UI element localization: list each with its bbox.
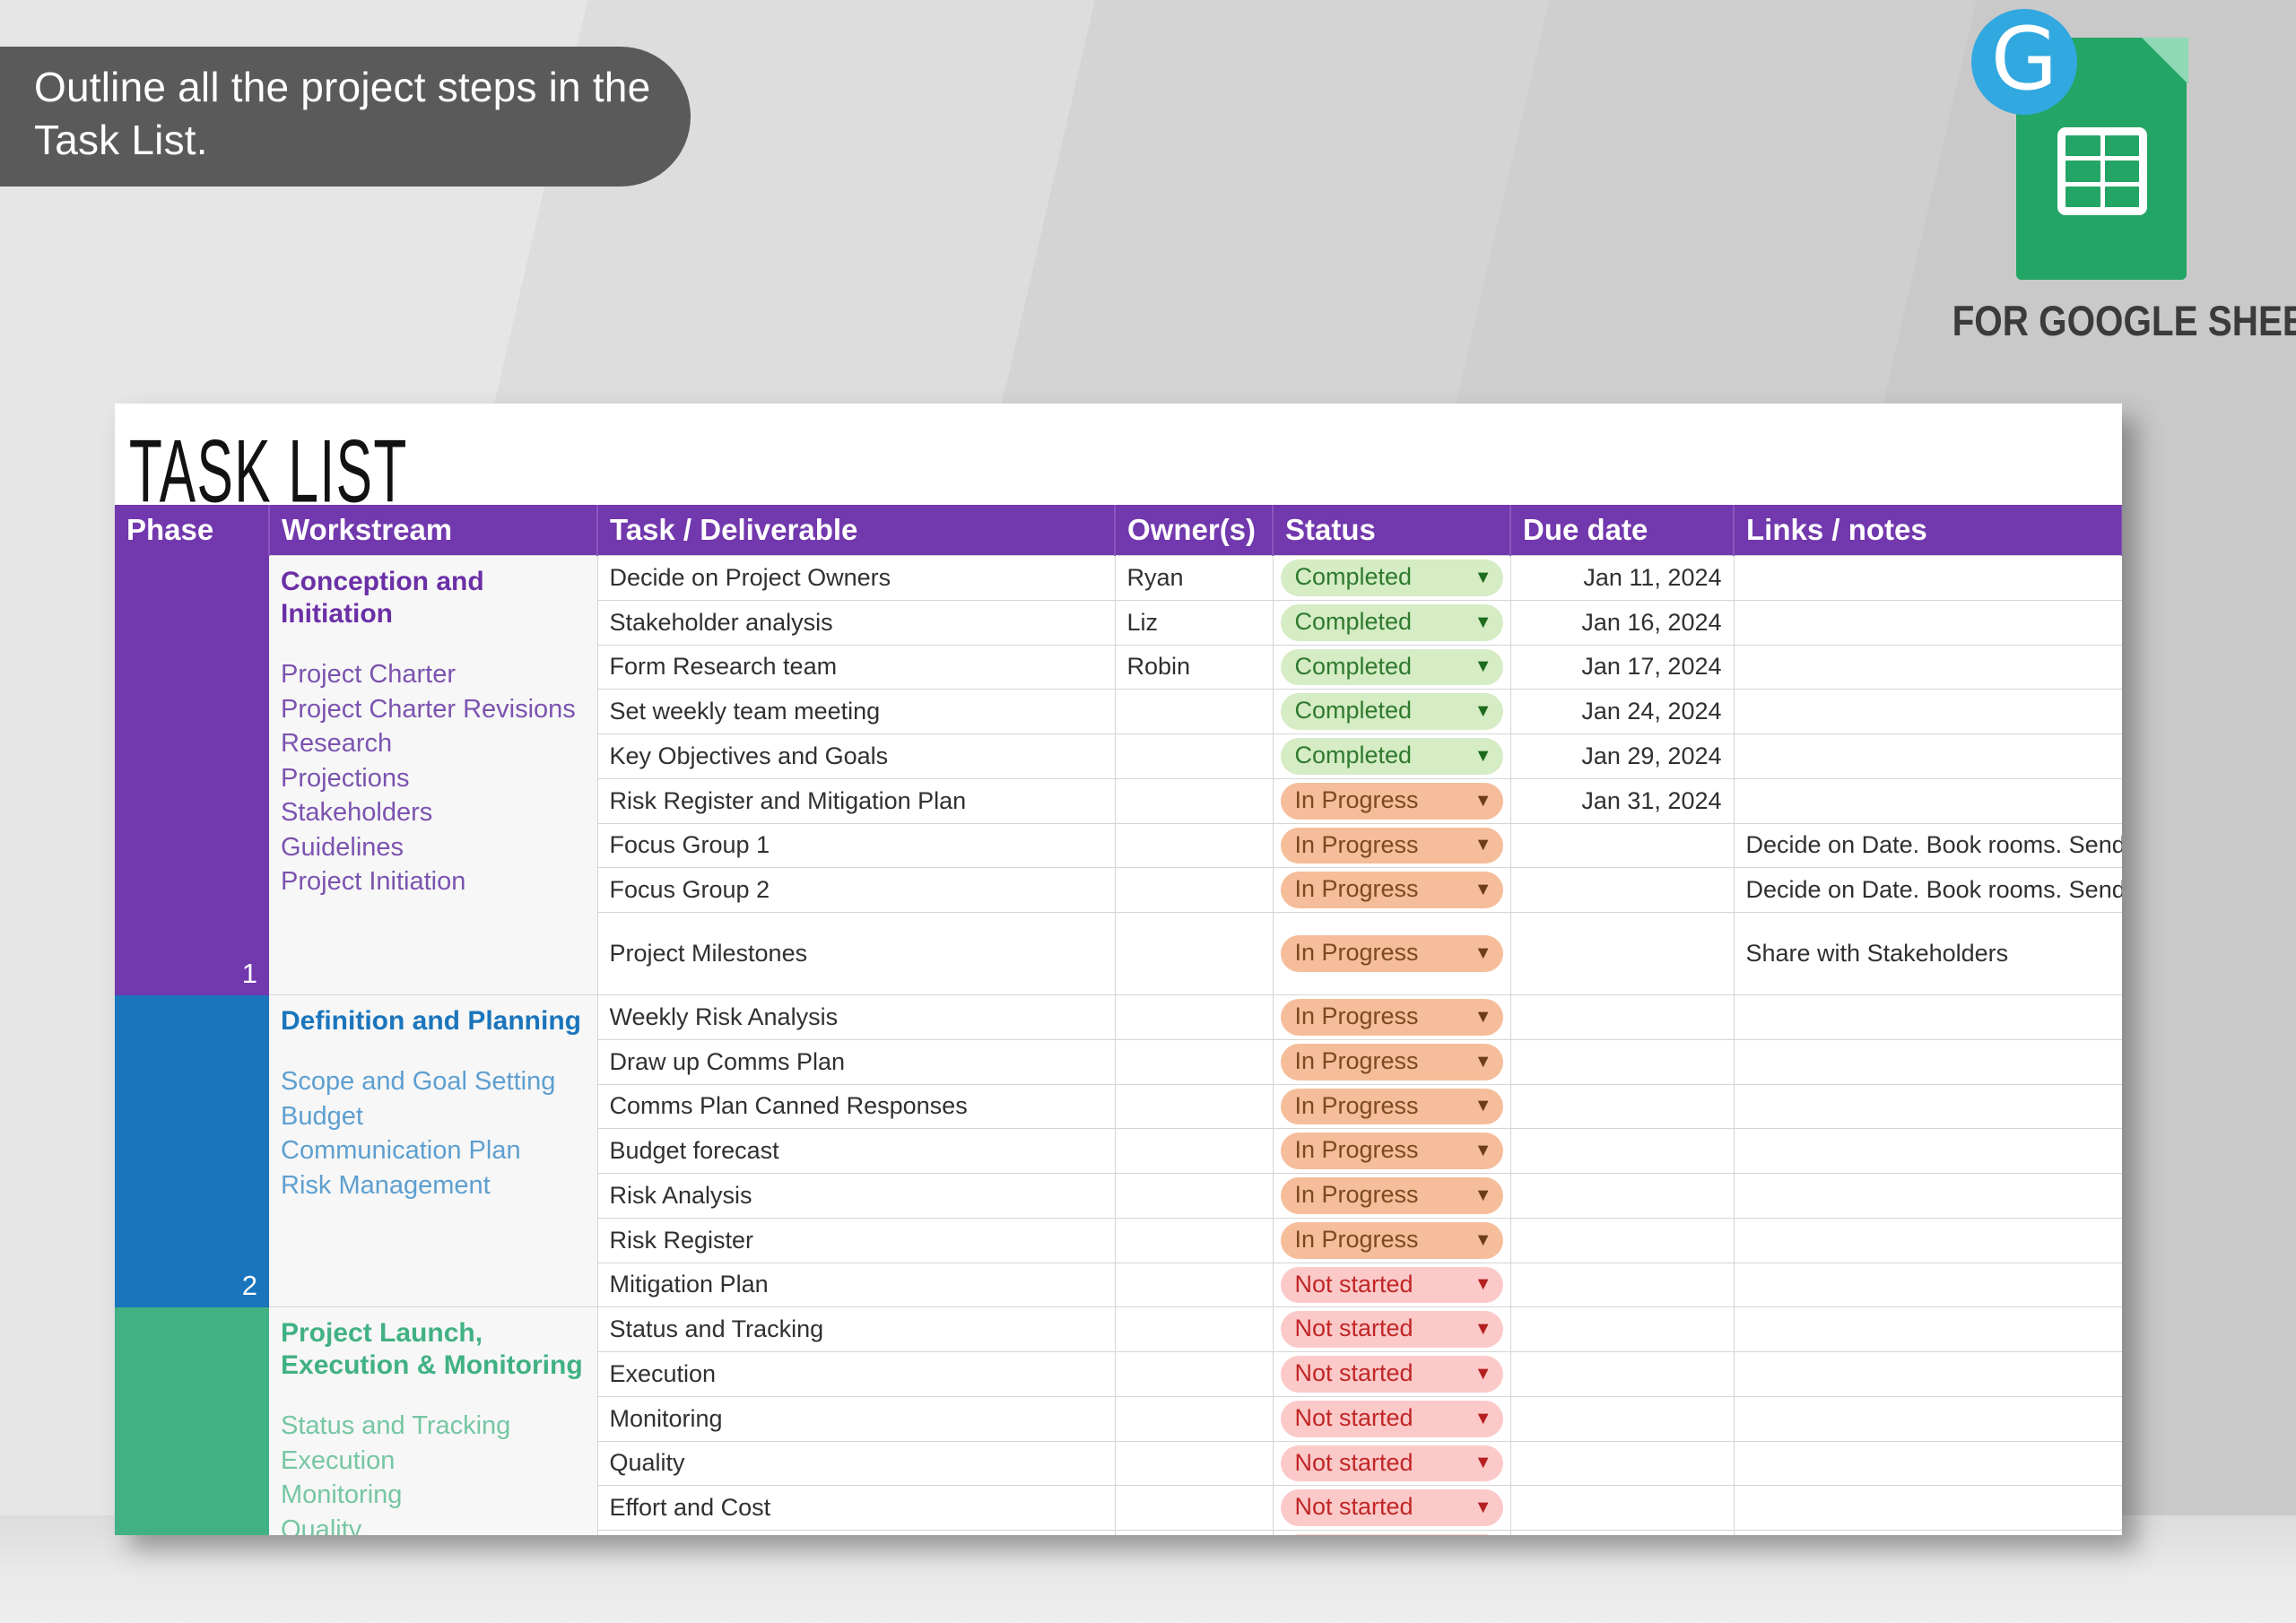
status-cell[interactable]: In Progress▼ [1273,1218,1510,1263]
due-date-cell[interactable] [1510,1486,1734,1531]
task-cell[interactable]: Status and Tracking [597,1307,1115,1352]
workstream-item: Quality [281,1513,586,1535]
status-dropdown[interactable]: In Progress▼ [1281,999,1503,1036]
owner-cell[interactable] [1115,913,1273,995]
status-label: In Progress [1295,1091,1419,1122]
status-label: Completed [1295,607,1413,638]
status-cell[interactable]: Completed▼ [1273,690,1510,734]
phase-number-cell: 2 [115,995,269,1307]
links-notes-cell[interactable] [1734,778,2122,823]
links-notes-cell[interactable] [1734,556,2122,601]
due-date-cell[interactable] [1510,1531,1734,1536]
links-notes-cell[interactable] [1734,1352,2122,1397]
workstream-cell[interactable]: Conception and InitiationProject Charter… [269,556,597,995]
owner-cell[interactable]: Liz [1115,600,1273,645]
due-date-cell[interactable] [1510,1307,1734,1352]
task-cell[interactable]: Risk Register and Mitigation Plan [597,778,1115,823]
status-dropdown[interactable]: Not started▼ [1281,1445,1503,1482]
chevron-down-icon[interactable]: ▼ [1474,1365,1492,1383]
owner-cell[interactable] [1115,823,1273,868]
chevron-down-icon[interactable]: ▼ [1474,613,1492,631]
status-label: Not started [1295,1270,1413,1300]
due-date-cell[interactable]: Jan 29, 2024 [1510,734,1734,779]
links-notes-cell[interactable] [1734,1263,2122,1307]
status-cell[interactable]: Not started▼ [1273,1352,1510,1397]
workstream-cell[interactable]: Project Launch, Execution & MonitoringSt… [269,1307,597,1535]
status-dropdown[interactable]: Completed▼ [1281,604,1503,641]
due-date-cell[interactable]: Jan 31, 2024 [1510,778,1734,823]
spreadsheet-card: TASK LIST Phase Workstream Task / Delive… [115,404,2122,1535]
owner-cell[interactable] [1115,995,1273,1040]
links-notes-cell[interactable] [1734,734,2122,779]
status-dropdown[interactable]: In Progress▼ [1281,1177,1503,1214]
owner-cell[interactable] [1115,1352,1273,1397]
status-label: In Progress [1295,1225,1419,1255]
due-date-cell[interactable] [1510,1441,1734,1486]
status-cell[interactable]: Not started▼ [1273,1486,1510,1531]
status-dropdown[interactable]: Not started▼ [1281,1489,1503,1526]
task-cell[interactable]: Key Objectives and Goals [597,734,1115,779]
task-cell[interactable]: Effort and Cost [597,1486,1115,1531]
chevron-down-icon[interactable]: ▼ [1474,792,1492,810]
links-notes-cell[interactable] [1734,645,2122,690]
links-notes-cell[interactable] [1734,1084,2122,1129]
chevron-down-icon[interactable]: ▼ [1474,836,1492,854]
status-dropdown[interactable]: Completed▼ [1281,693,1503,730]
owner-cell[interactable] [1115,868,1273,913]
branding-caption: FOR GOOGLE SHEETS! [1952,296,2246,345]
due-date-cell[interactable] [1510,1174,1734,1219]
status-cell[interactable]: In Progress▼ [1273,1129,1510,1174]
chevron-down-icon[interactable]: ▼ [1474,747,1492,765]
chevron-down-icon[interactable]: ▼ [1474,881,1492,898]
owner-cell[interactable] [1115,1039,1273,1084]
task-cell[interactable]: Focus Group 2 [597,868,1115,913]
status-cell[interactable]: In Progress▼ [1273,868,1510,913]
workstream-cell[interactable]: Definition and PlanningScope and Goal Se… [269,995,597,1307]
chevron-down-icon[interactable]: ▼ [1474,1275,1492,1293]
owner-cell[interactable] [1115,1129,1273,1174]
status-dropdown[interactable]: In Progress▼ [1281,1089,1503,1125]
links-notes-cell[interactable] [1734,1396,2122,1441]
task-cell[interactable]: Comms Plan Canned Responses [597,1084,1115,1129]
status-label: Completed [1295,652,1413,682]
status-dropdown[interactable]: Not started▼ [1281,1401,1503,1437]
chevron-down-icon[interactable]: ▼ [1474,1008,1492,1026]
status-cell[interactable]: In Progress▼ [1273,823,1510,868]
status-dropdown[interactable]: Completed▼ [1281,649,1503,686]
status-dropdown[interactable]: In Progress▼ [1281,1044,1503,1081]
status-dropdown[interactable]: In Progress▼ [1281,828,1503,864]
task-cell[interactable]: Budget forecast [597,1129,1115,1174]
status-dropdown[interactable]: Not started▼ [1281,1356,1503,1393]
links-notes-cell[interactable] [1734,600,2122,645]
workstream-item-list: Scope and Goal SettingBudgetCommunicatio… [281,1064,586,1202]
sheets-table-glyph-icon [2057,127,2147,215]
workstream-item: Status and Tracking [281,1409,586,1444]
status-cell[interactable]: In Progress▼ [1273,913,1510,995]
links-notes-cell[interactable] [1734,1441,2122,1486]
workstream-item: Execution [281,1444,586,1479]
chevron-down-icon[interactable]: ▼ [1474,702,1492,720]
phase-number-cell: 1 [115,556,269,995]
links-notes-cell[interactable] [1734,690,2122,734]
status-dropdown[interactable]: Not started▼ [1281,1267,1503,1304]
status-dropdown[interactable]: Not started▼ [1281,1534,1503,1535]
status-label: In Progress [1295,830,1419,861]
workstream-item: Guidelines [281,830,586,865]
status-cell[interactable]: In Progress▼ [1273,1084,1510,1129]
status-label: Completed [1295,696,1413,726]
workstream-item: Budget [281,1099,586,1134]
status-label: In Progress [1295,874,1419,905]
status-cell[interactable]: Completed▼ [1273,645,1510,690]
status-dropdown[interactable]: Completed▼ [1281,560,1503,596]
status-cell[interactable]: Not started▼ [1273,1531,1510,1536]
owner-cell[interactable] [1115,1307,1273,1352]
task-cell[interactable]: Decide on Project Owners [597,556,1115,601]
workstream-item: Scope and Goal Setting [281,1064,586,1099]
workstream-item: Project Charter Revisions [281,692,586,727]
links-notes-cell[interactable] [1734,1486,2122,1531]
chevron-down-icon[interactable]: ▼ [1474,1141,1492,1159]
chevron-down-icon[interactable]: ▼ [1474,657,1492,675]
task-cell[interactable]: Weekly Risk Analysis [597,995,1115,1040]
table-row[interactable]: 1Conception and InitiationProject Charte… [115,556,2122,601]
status-cell[interactable]: Not started▼ [1273,1396,1510,1441]
due-date-cell[interactable]: Jan 11, 2024 [1510,556,1734,601]
due-date-cell[interactable] [1510,913,1734,995]
due-date-cell[interactable] [1510,1129,1734,1174]
links-notes-cell[interactable]: Decide on Date. Book rooms. Send invi [1734,823,2122,868]
task-cell[interactable]: Establish key performance indicators (KP… [597,1531,1115,1536]
workstream-title: Conception and Initiation [281,566,586,630]
due-date-cell[interactable] [1510,823,1734,868]
status-label: Completed [1295,562,1413,593]
due-date-cell[interactable] [1510,1039,1734,1084]
callout-banner: Outline all the project steps in the Tas… [0,47,691,187]
task-cell[interactable]: Project Milestones [597,913,1115,995]
owner-cell[interactable]: Ryan [1115,556,1273,601]
workstream-item: Research [281,726,586,761]
column-header-links[interactable]: Links / notes [1734,505,2122,556]
workstream-item: Risk Management [281,1168,586,1203]
status-label: Not started [1295,1358,1413,1389]
chevron-down-icon[interactable]: ▼ [1474,568,1492,586]
due-date-cell[interactable] [1510,995,1734,1040]
due-date-cell[interactable]: Jan 17, 2024 [1510,645,1734,690]
task-cell[interactable]: Draw up Comms Plan [597,1039,1115,1084]
due-date-cell[interactable] [1510,1396,1734,1441]
task-cell[interactable]: Quality [597,1441,1115,1486]
table-body: 1Conception and InitiationProject Charte… [115,556,2122,1536]
chevron-down-icon[interactable]: ▼ [1474,1053,1492,1071]
chevron-down-icon[interactable]: ▼ [1474,944,1492,962]
links-notes-cell[interactable] [1734,1531,2122,1536]
owner-cell[interactable] [1115,778,1273,823]
status-cell[interactable]: In Progress▼ [1273,1174,1510,1219]
owner-cell[interactable] [1115,1441,1273,1486]
status-label: Completed [1295,741,1413,771]
status-cell[interactable]: Not started▼ [1273,1441,1510,1486]
workstream-item: Projections [281,761,586,796]
status-cell[interactable]: Completed▼ [1273,556,1510,601]
workstream-item: Monitoring [281,1478,586,1513]
status-label: In Progress [1295,1002,1419,1032]
links-notes-cell[interactable]: Decide on Date. Book rooms. Send invi [1734,868,2122,913]
due-date-cell[interactable] [1510,1218,1734,1263]
callout-text: Outline all the project steps in the Tas… [34,61,655,167]
workstream-item-list: Project CharterProject Charter Revisions… [281,657,586,899]
chevron-down-icon[interactable]: ▼ [1474,1186,1492,1204]
status-cell[interactable]: Completed▼ [1273,734,1510,779]
chevron-down-icon[interactable]: ▼ [1474,1320,1492,1338]
owner-cell[interactable] [1115,690,1273,734]
due-date-cell[interactable] [1510,1352,1734,1397]
chevron-down-icon[interactable]: ▼ [1474,1498,1492,1516]
status-label: Not started [1295,1403,1413,1434]
status-label: In Progress [1295,1135,1419,1166]
owner-cell[interactable] [1115,1174,1273,1219]
phase-number-cell: 3 [115,1307,269,1535]
task-cell[interactable]: Set weekly team meeting [597,690,1115,734]
workstream-item: Project Charter [281,657,586,692]
task-cell[interactable]: Monitoring [597,1396,1115,1441]
due-date-cell[interactable]: Jan 16, 2024 [1510,600,1734,645]
task-cell[interactable]: Execution [597,1352,1115,1397]
status-cell[interactable]: In Progress▼ [1273,778,1510,823]
owner-cell[interactable] [1115,1218,1273,1263]
status-label: In Progress [1295,938,1419,968]
links-notes-cell[interactable] [1734,1174,2122,1219]
workstream-item: Communication Plan [281,1133,586,1168]
due-date-cell[interactable] [1510,868,1734,913]
task-cell[interactable]: Stakeholder analysis [597,600,1115,645]
links-notes-cell[interactable]: Share with Stakeholders [1734,913,2122,995]
task-cell[interactable]: Mitigation Plan [597,1263,1115,1307]
status-cell[interactable]: In Progress▼ [1273,1039,1510,1084]
chevron-down-icon[interactable]: ▼ [1474,1097,1492,1115]
workstream-title: Definition and Planning [281,1005,586,1037]
due-date-cell[interactable]: Jan 24, 2024 [1510,690,1734,734]
task-cell[interactable]: Risk Analysis [597,1174,1115,1219]
status-cell[interactable]: In Progress▼ [1273,995,1510,1040]
owner-cell[interactable] [1115,1486,1273,1531]
owner-cell[interactable]: Robin [1115,645,1273,690]
status-dropdown[interactable]: In Progress▼ [1281,1133,1503,1169]
task-cell[interactable]: Focus Group 1 [597,823,1115,868]
task-cell[interactable]: Risk Register [597,1218,1115,1263]
workstream-title: Project Launch, Execution & Monitoring [281,1317,586,1382]
status-dropdown[interactable]: In Progress▼ [1281,935,1503,972]
status-label: Not started [1295,1492,1413,1523]
chevron-down-icon[interactable]: ▼ [1474,1454,1492,1471]
status-label: Not started [1295,1448,1413,1479]
due-date-cell[interactable] [1510,1263,1734,1307]
status-dropdown[interactable]: Not started▼ [1281,1311,1503,1348]
chevron-down-icon[interactable]: ▼ [1474,1410,1492,1428]
owner-cell[interactable] [1115,1084,1273,1129]
task-cell[interactable]: Form Research team [597,645,1115,690]
status-label: In Progress [1295,1180,1419,1211]
links-notes-cell[interactable] [1734,995,2122,1040]
google-g-icon: G [1971,9,2077,115]
google-g-letter: G [1991,16,2057,102]
sheet-title: TASK LIST [115,404,1560,523]
owner-cell[interactable] [1115,1531,1273,1536]
links-notes-cell[interactable] [1734,1218,2122,1263]
sheets-page-fold-icon [2142,38,2188,84]
google-sheets-branding: G FOR GOOGLE SHEETS! [1928,7,2269,345]
owner-cell[interactable] [1115,1263,1273,1307]
links-notes-cell[interactable] [1734,1129,2122,1174]
status-dropdown[interactable]: Completed▼ [1281,738,1503,775]
status-cell[interactable]: Not started▼ [1273,1263,1510,1307]
task-list-table: Phase Workstream Task / Deliverable Owne… [115,505,2122,1535]
status-dropdown[interactable]: In Progress▼ [1281,1222,1503,1259]
table-row[interactable]: 2Definition and PlanningScope and Goal S… [115,995,2122,1040]
chevron-down-icon[interactable]: ▼ [1474,1231,1492,1249]
status-label: Not started [1295,1314,1413,1344]
owner-cell[interactable] [1115,1396,1273,1441]
table-row[interactable]: 3Project Launch, Execution & MonitoringS… [115,1307,2122,1352]
status-dropdown[interactable]: In Progress▼ [1281,872,1503,908]
sheets-logo: G [2009,20,2188,280]
status-label: In Progress [1295,1046,1419,1077]
workstream-item-list: Status and TrackingExecutionMonitoringQu… [281,1409,586,1535]
workstream-item: Stakeholders [281,795,586,830]
links-notes-cell[interactable] [1734,1039,2122,1084]
owner-cell[interactable] [1115,734,1273,779]
status-dropdown[interactable]: In Progress▼ [1281,783,1503,820]
workstream-item: Project Initiation [281,864,586,899]
status-cell[interactable]: Not started▼ [1273,1307,1510,1352]
status-label: In Progress [1295,785,1419,816]
links-notes-cell[interactable] [1734,1307,2122,1352]
status-cell[interactable]: Completed▼ [1273,600,1510,645]
due-date-cell[interactable] [1510,1084,1734,1129]
